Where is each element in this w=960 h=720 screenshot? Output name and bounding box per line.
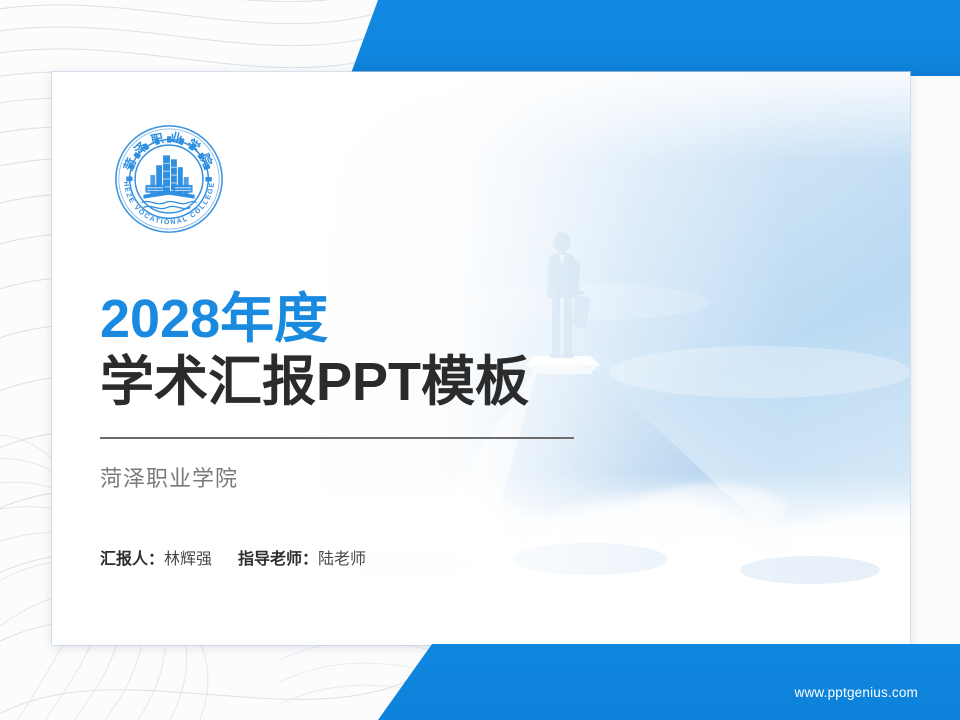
presenter-name: 林辉强 <box>164 551 212 568</box>
presenter-label: 汇报人： <box>100 551 164 568</box>
title-text-block: 2028年度 学术汇报PPT模板 菏泽职业学院 汇报人：林辉强指导老师：陆老师 <box>100 290 640 569</box>
footer-website-url[interactable]: www.pptgenius.com <box>795 685 918 700</box>
title-year: 2028年度 <box>100 290 640 348</box>
title-main: 学术汇报PPT模板 <box>100 352 640 412</box>
organization-name: 菏泽职业学院 <box>100 461 640 493</box>
presentation-title-slide: 菏泽职业学院 HEZE VOCATIONAL COLLEGE 2028年度 学术… <box>0 0 960 720</box>
content-card: 菏泽职业学院 HEZE VOCATIONAL COLLEGE 2028年度 学术… <box>52 72 910 645</box>
college-logo: 菏泽职业学院 HEZE VOCATIONAL COLLEGE <box>110 120 228 238</box>
title-divider <box>100 437 574 439</box>
advisor-name: 陆老师 <box>318 551 366 568</box>
byline: 汇报人：林辉强指导老师：陆老师 <box>100 545 640 569</box>
advisor-label: 指导老师： <box>238 551 318 568</box>
